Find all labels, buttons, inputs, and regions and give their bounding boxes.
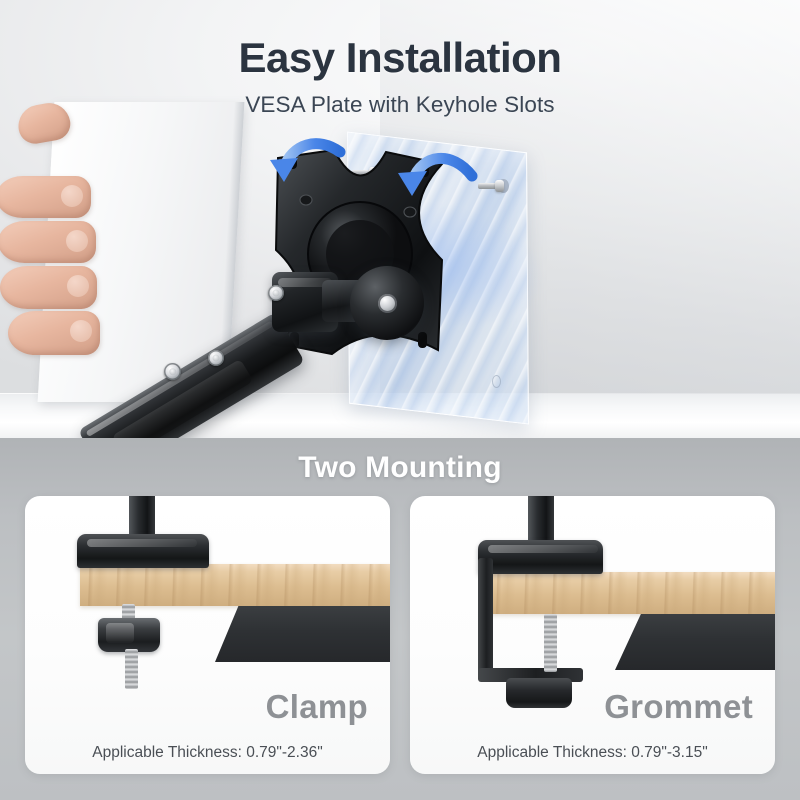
easy-installation-section: Easy Installation VESA Plate with Keyhol… [0,0,800,438]
arm-bolt-upper [268,285,284,301]
top-heading-group: Easy Installation VESA Plate with Keyhol… [0,34,800,118]
card-label-grommet: Grommet [604,688,753,726]
grommet-pad [506,678,572,708]
card-note-clamp: Applicable Thickness: 0.79"-2.36" [25,744,390,762]
wood-grain [80,564,390,606]
installation-arrows [240,138,570,258]
card-note-grommet: Applicable Thickness: 0.79"-3.15" [410,744,775,762]
page-title: Easy Installation [0,34,800,82]
arm-bolt-lower [164,363,181,380]
arrow-left-icon [270,144,340,182]
card-label-clamp: Clamp [266,688,368,726]
two-mounting-section: Two Mounting Clamp App [0,438,800,800]
c-clamp-vertical-arm [478,558,493,680]
fingernail [66,230,88,252]
clamp-tighten-knob [98,618,160,652]
mounting-card-clamp[interactable]: Clamp Applicable Thickness: 0.79"-2.36" [25,496,390,774]
fingernail [61,185,83,207]
arm-post [528,496,554,540]
desk-surface [80,564,390,606]
tilt-pin-bolt [378,294,397,313]
desk-surface [488,572,775,614]
desk-underside-shadow [615,614,775,670]
arrow-svg [240,138,570,258]
clamp-top-block [77,534,209,568]
clamp-top-block [478,540,603,574]
panel-screw-hole [492,375,501,388]
clamp-screw-rod [125,649,138,689]
section-heading: Two Mounting [0,451,800,485]
arm-post [129,496,155,536]
mounting-cards: Clamp Applicable Thickness: 0.79"-2.36" [0,496,800,796]
grommet-screw-rod [544,614,557,672]
wood-grain [488,572,775,614]
page-subtitle: VESA Plate with Keyhole Slots [0,92,800,118]
mounting-card-grommet[interactable]: Grommet Applicable Thickness: 0.79"-3.15… [410,496,775,774]
arm-bolt-middle [208,350,224,366]
desk-underside-shadow [215,606,390,662]
arm-lower-segment [78,312,305,438]
product-infographic: Easy Installation VESA Plate with Keyhol… [0,0,800,800]
arrow-right-icon [398,158,472,196]
finger-index [0,176,91,218]
gas-spring-monitor-arm [60,250,480,438]
